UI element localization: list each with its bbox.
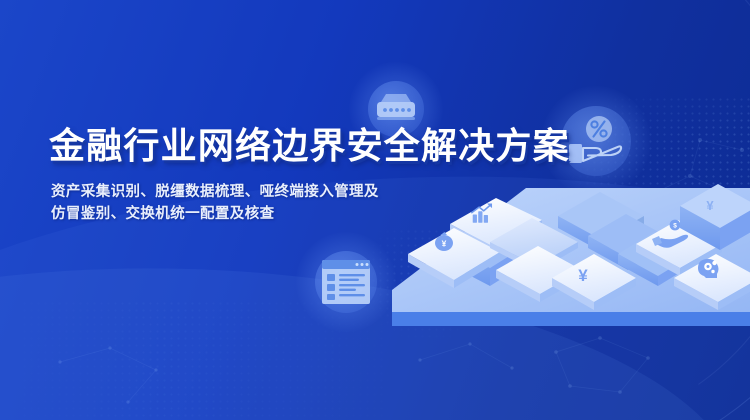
yen-icon: ¥ [578,266,588,285]
svg-text:$: $ [673,223,677,230]
router-icon-glyph [372,92,420,126]
headline-block: 金融行业网络边界安全解决方案 资产采集识别、脱缰数据梳理、哑终端接入管理及 仿冒… [49,124,570,225]
svg-text:¥: ¥ [442,239,447,249]
percent-hand-icon-glyph [565,114,627,168]
subtitle: 资产采集识别、脱缰数据梳理、哑终端接入管理及 仿冒鉴别、交换机统一配置及核查 [51,181,570,225]
document-window-icon [296,232,396,332]
document-window-icon-glyph [320,258,372,306]
banner-root: ¥ [0,0,750,420]
page-title: 金融行业网络边界安全解决方案 [49,124,570,168]
yen-block-icon: ¥ [706,198,714,213]
subtitle-line-1: 资产采集识别、脱缰数据梳理、哑终端接入管理及 [51,181,570,203]
subtitle-line-2: 仿冒鉴别、交换机统一配置及核查 [51,203,570,225]
